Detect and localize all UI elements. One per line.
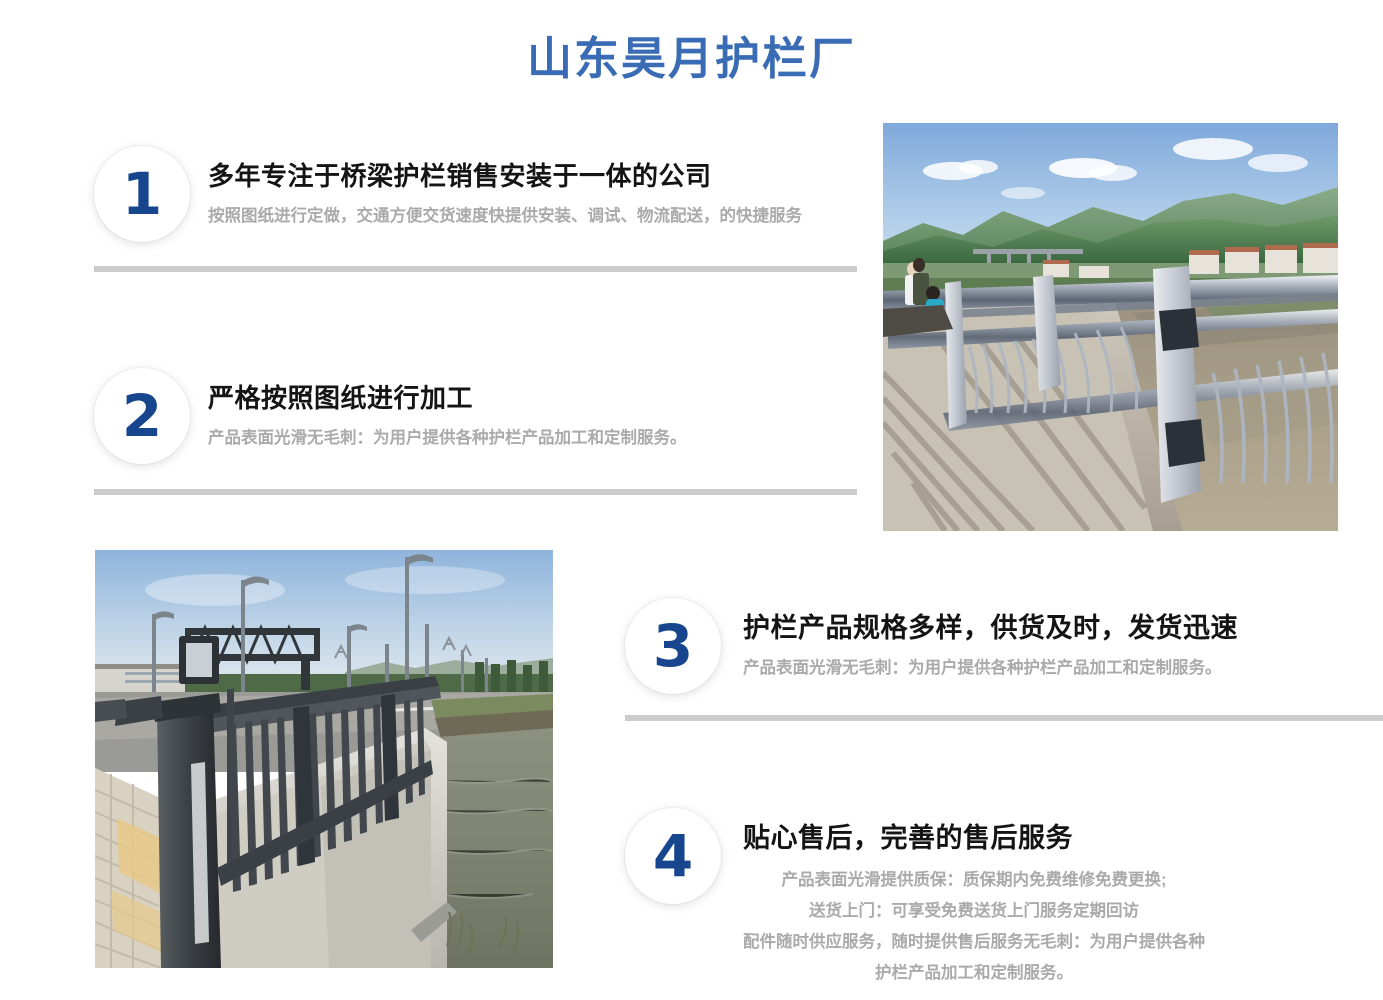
feature-subtitle-4-line-4: 护栏产品加工和定制服务。 xyxy=(743,958,1205,989)
feature-subtitle-4: 产品表面光滑提供质保：质保期内免费维修免费更换; 送货上门：可享受免费送货上门服… xyxy=(743,865,1205,989)
feature-number-badge-4: 4 xyxy=(625,808,721,904)
promo-page: 山东昊月护栏厂 1 多年专注于桥梁护栏销售安装于一体的公司 按照图纸进行定做，交… xyxy=(0,0,1383,1000)
photo-bridge-rail-river-art xyxy=(883,123,1338,531)
feature-number-2: 2 xyxy=(122,387,162,445)
photo-bridge-rail-canal xyxy=(95,550,553,968)
feature-item-3: 3 护栏产品规格多样，供货及时，发货迅速 产品表面光滑无毛刺：为用户提供各种护栏… xyxy=(625,598,1238,694)
feature-item-1: 1 多年专注于桥梁护栏销售安装于一体的公司 按照图纸进行定做，交通方便交货速度快… xyxy=(94,146,802,242)
photo-bridge-rail-canal-art xyxy=(95,550,553,968)
feature-number-3: 3 xyxy=(653,617,693,675)
feature-subtitle-3: 产品表面光滑无毛刺：为用户提供各种护栏产品加工和定制服务。 xyxy=(743,655,1238,682)
feature-title-1: 多年专注于桥梁护栏销售安装于一体的公司 xyxy=(208,158,802,194)
feature-item-4: 4 贴心售后，完善的售后服务 产品表面光滑提供质保：质保期内免费维修免费更换; … xyxy=(625,808,1205,989)
feature-number-badge-3: 3 xyxy=(625,598,721,694)
feature-text-4: 贴心售后，完善的售后服务 产品表面光滑提供质保：质保期内免费维修免费更换; 送货… xyxy=(721,808,1205,989)
feature-title-3: 护栏产品规格多样，供货及时，发货迅速 xyxy=(743,610,1238,646)
feature-number-4: 4 xyxy=(653,827,693,885)
feature-title-2: 严格按照图纸进行加工 xyxy=(208,380,687,416)
feature-subtitle-4-line-1: 产品表面光滑提供质保：质保期内免费维修免费更换; xyxy=(743,865,1205,896)
feature-number-badge-1: 1 xyxy=(94,146,190,242)
feature-subtitle-4-line-2: 送货上门：可享受免费送货上门服务定期回访 xyxy=(743,896,1205,927)
feature-text-2: 严格按照图纸进行加工 产品表面光滑无毛刺：为用户提供各种护栏产品加工和定制服务。 xyxy=(190,368,687,452)
feature-title-4: 贴心售后，完善的售后服务 xyxy=(743,820,1205,856)
feature-text-3: 护栏产品规格多样，供货及时，发货迅速 产品表面光滑无毛刺：为用户提供各种护栏产品… xyxy=(721,598,1238,682)
page-title: 山东昊月护栏厂 xyxy=(0,30,1383,88)
feature-text-1: 多年专注于桥梁护栏销售安装于一体的公司 按照图纸进行定做，交通方便交货速度快提供… xyxy=(190,146,802,230)
section-divider-1 xyxy=(94,266,857,272)
photo-bridge-rail-river xyxy=(883,123,1338,531)
feature-number-1: 1 xyxy=(122,165,162,223)
feature-item-2: 2 严格按照图纸进行加工 产品表面光滑无毛刺：为用户提供各种护栏产品加工和定制服… xyxy=(94,368,687,464)
section-divider-3 xyxy=(625,715,1383,721)
feature-subtitle-1: 按照图纸进行定做，交通方便交货速度快提供安装、调试、物流配送，的快捷服务 xyxy=(208,203,802,230)
feature-subtitle-4-line-3: 配件随时供应服务，随时提供售后服务无毛刺：为用户提供各种 xyxy=(743,927,1205,958)
feature-subtitle-2: 产品表面光滑无毛刺：为用户提供各种护栏产品加工和定制服务。 xyxy=(208,425,687,452)
section-divider-2 xyxy=(94,489,857,495)
feature-number-badge-2: 2 xyxy=(94,368,190,464)
